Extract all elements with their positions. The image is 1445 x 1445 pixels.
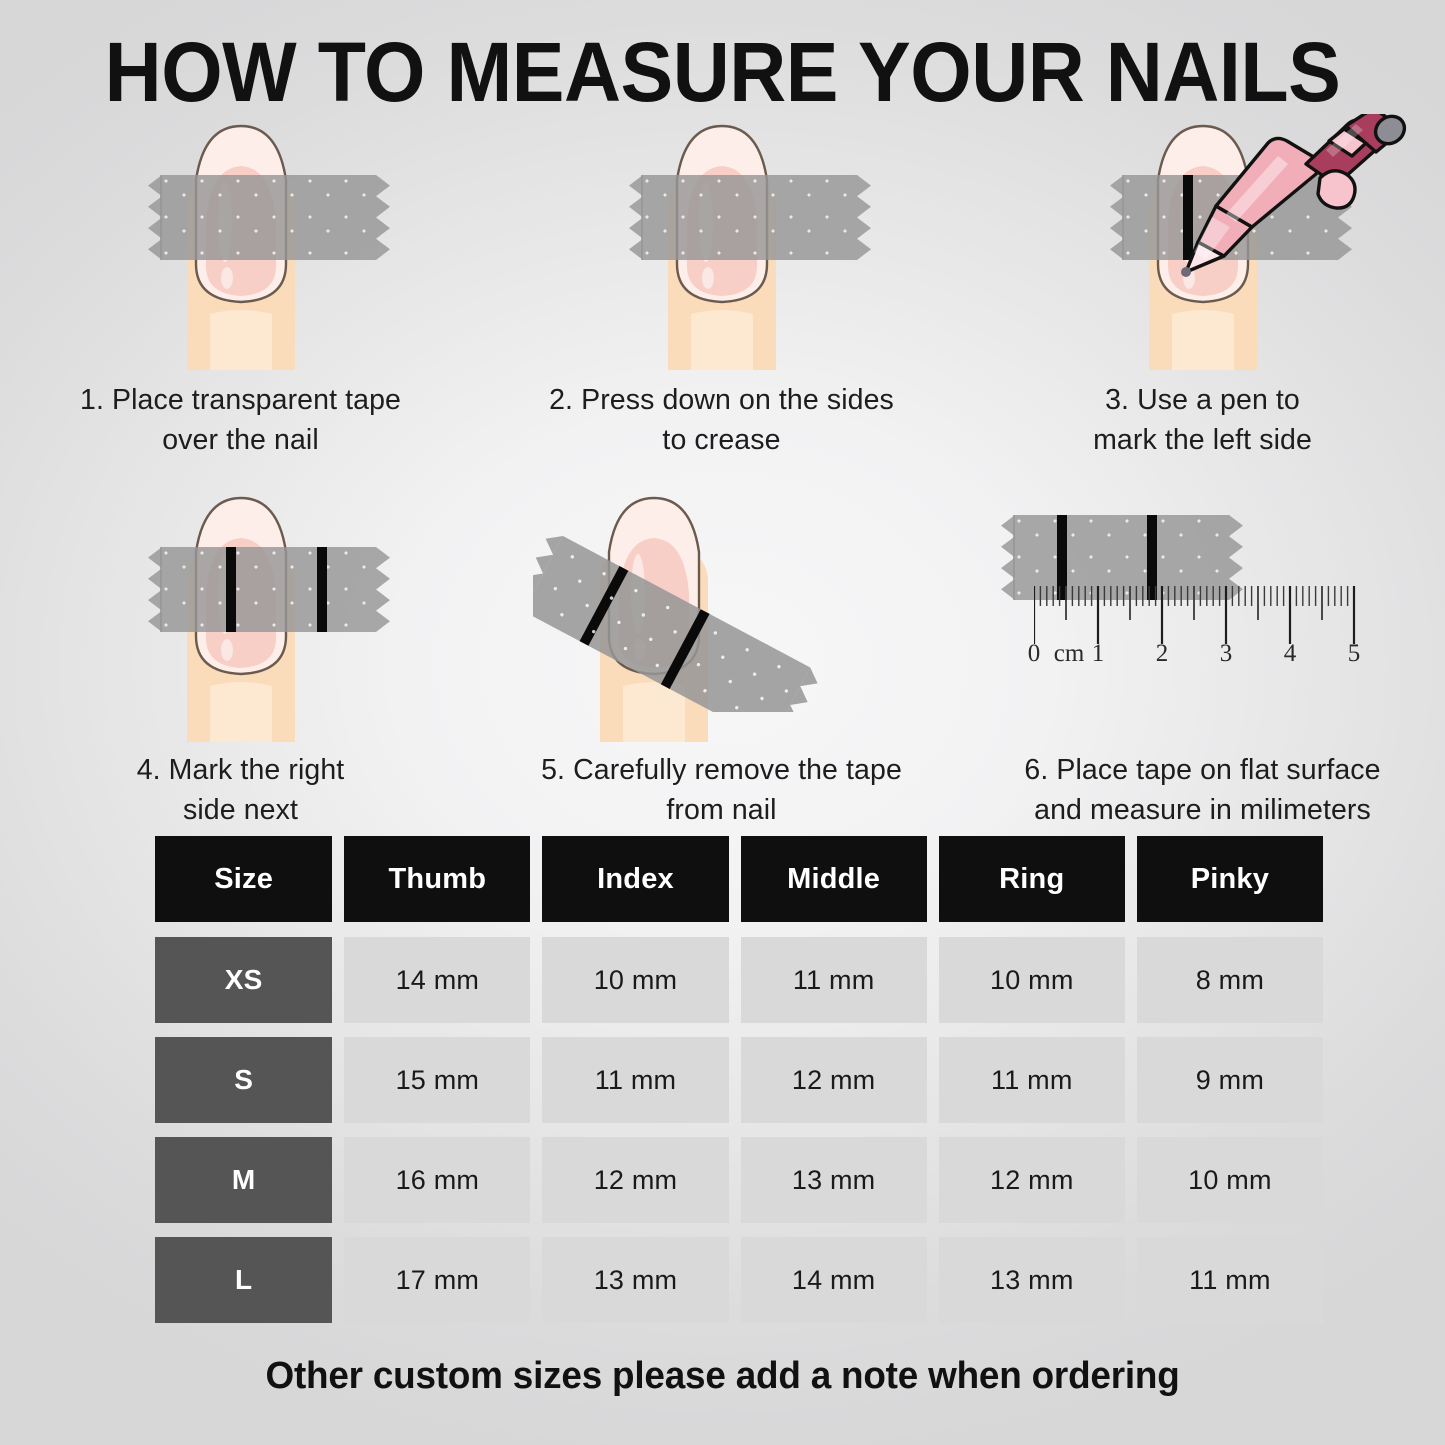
cell-index: 12 mm: [542, 1137, 728, 1223]
step-6: 0 cm 1 2 3 4 5 6. Place tape on flat sur…: [962, 490, 1443, 830]
table-row: S 15 mm 11 mm 12 mm 11 mm 9 mm: [155, 1037, 1323, 1123]
tape-zigzag-left-icon: [148, 175, 162, 260]
right-pen-mark: [317, 547, 327, 632]
cell-ring: 11 mm: [939, 1037, 1125, 1123]
cell-middle: 12 mm: [741, 1037, 927, 1123]
cell-index: 10 mm: [542, 937, 728, 1023]
cell-pinky: 10 mm: [1137, 1137, 1323, 1223]
step-5-caption: 5. Carefully remove the tape from nail: [481, 750, 962, 830]
tape-zigzag-right-icon: [376, 547, 390, 632]
ruler-number-1: 1: [1078, 640, 1118, 668]
cell-thumb: 16 mm: [344, 1137, 530, 1223]
infographic-page: HOW TO MEASURE YOUR NAILS: [0, 0, 1445, 1445]
tape-zigzag-left-icon: [629, 175, 643, 260]
peeled-tape-icon: [533, 512, 953, 712]
step-1: 1. Place transparent tape over the nail: [0, 118, 481, 460]
table-row: L 17 mm 13 mm 14 mm 13 mm 11 mm: [155, 1237, 1323, 1323]
cell-ring: 13 mm: [939, 1237, 1125, 1323]
row-size-label: L: [155, 1237, 332, 1323]
table-row: M 16 mm 12 mm 13 mm 12 mm 10 mm: [155, 1137, 1323, 1223]
cell-middle: 14 mm: [741, 1237, 927, 1323]
step-1-caption: 1. Place transparent tape over the nail: [0, 380, 481, 460]
ruler-labels: 0 cm 1 2 3 4 5: [1034, 640, 1394, 680]
header-ring: Ring: [939, 836, 1125, 922]
cell-middle: 11 mm: [741, 937, 927, 1023]
header-size: Size: [155, 836, 332, 922]
cell-pinky: 11 mm: [1137, 1237, 1323, 1323]
left-pen-mark: [226, 547, 236, 632]
tape-zigzag-right-icon: [857, 175, 871, 260]
cell-pinky: 9 mm: [1137, 1037, 1323, 1123]
cell-thumb: 15 mm: [344, 1037, 530, 1123]
tape-zigzag-left-icon: [1001, 515, 1015, 600]
ruler-number-2: 2: [1142, 640, 1182, 668]
steps-grid: 1. Place transparent tape over the nail: [0, 118, 1445, 830]
cell-ring: 10 mm: [939, 937, 1125, 1023]
ruler-number-3: 3: [1206, 640, 1246, 668]
cell-thumb: 17 mm: [344, 1237, 530, 1323]
step-3-illustration: [962, 118, 1443, 370]
tape-strip: [160, 547, 376, 632]
cell-thumb: 14 mm: [344, 937, 530, 1023]
ruler-number-0: 0: [1014, 640, 1054, 668]
ruler-number-4: 4: [1270, 640, 1310, 668]
header-pinky: Pinky: [1137, 836, 1323, 922]
table-header-row: Size Thumb Index Middle Ring Pinky: [155, 836, 1323, 922]
step-5: 5. Carefully remove the tape from nail: [481, 490, 962, 830]
tape-zigzag-right-icon: [376, 175, 390, 260]
step-6-illustration: 0 cm 1 2 3 4 5: [962, 490, 1443, 740]
header-middle: Middle: [741, 836, 927, 922]
row-size-label: M: [155, 1137, 332, 1223]
ruler-number-5: 5: [1334, 640, 1374, 668]
step-4-illustration: [0, 490, 481, 740]
header-thumb: Thumb: [344, 836, 530, 922]
page-title: HOW TO MEASURE YOUR NAILS: [43, 24, 1401, 121]
steps-row-2: 4. Mark the right side next: [0, 490, 1445, 830]
cell-middle: 13 mm: [741, 1137, 927, 1223]
step-1-illustration: [0, 118, 481, 370]
steps-row-1: 1. Place transparent tape over the nail: [0, 118, 1445, 460]
tape-zigzag-left-icon: [1110, 175, 1124, 260]
step-4-caption: 4. Mark the right side next: [0, 750, 481, 830]
tape-zigzag-left-icon: [148, 547, 162, 632]
pen-icon: [1160, 114, 1410, 284]
step-4: 4. Mark the right side next: [0, 490, 481, 830]
table-row: XS 14 mm 10 mm 11 mm 10 mm 8 mm: [155, 937, 1323, 1023]
step-6-caption: 6. Place tape on flat surface and measur…: [962, 750, 1443, 830]
footer-note: Other custom sizes please add a note whe…: [22, 1355, 1424, 1398]
cell-index: 11 mm: [542, 1037, 728, 1123]
step-5-illustration: [481, 490, 962, 740]
step-2-illustration: [481, 118, 962, 370]
step-2-caption: 2. Press down on the sides to crease: [481, 380, 962, 460]
tape-strip: [641, 175, 857, 260]
cell-ring: 12 mm: [939, 1137, 1125, 1223]
row-size-label: S: [155, 1037, 332, 1123]
step-3: 3. Use a pen to mark the left side: [962, 118, 1443, 460]
tape-strip: [160, 175, 376, 260]
size-table: Size Thumb Index Middle Ring Pinky XS 14…: [155, 836, 1323, 1337]
step-2: 2. Press down on the sides to crease: [481, 118, 962, 460]
cell-index: 13 mm: [542, 1237, 728, 1323]
step-3-caption: 3. Use a pen to mark the left side: [962, 380, 1443, 460]
header-index: Index: [542, 836, 728, 922]
row-size-label: XS: [155, 937, 332, 1023]
cell-pinky: 8 mm: [1137, 937, 1323, 1023]
